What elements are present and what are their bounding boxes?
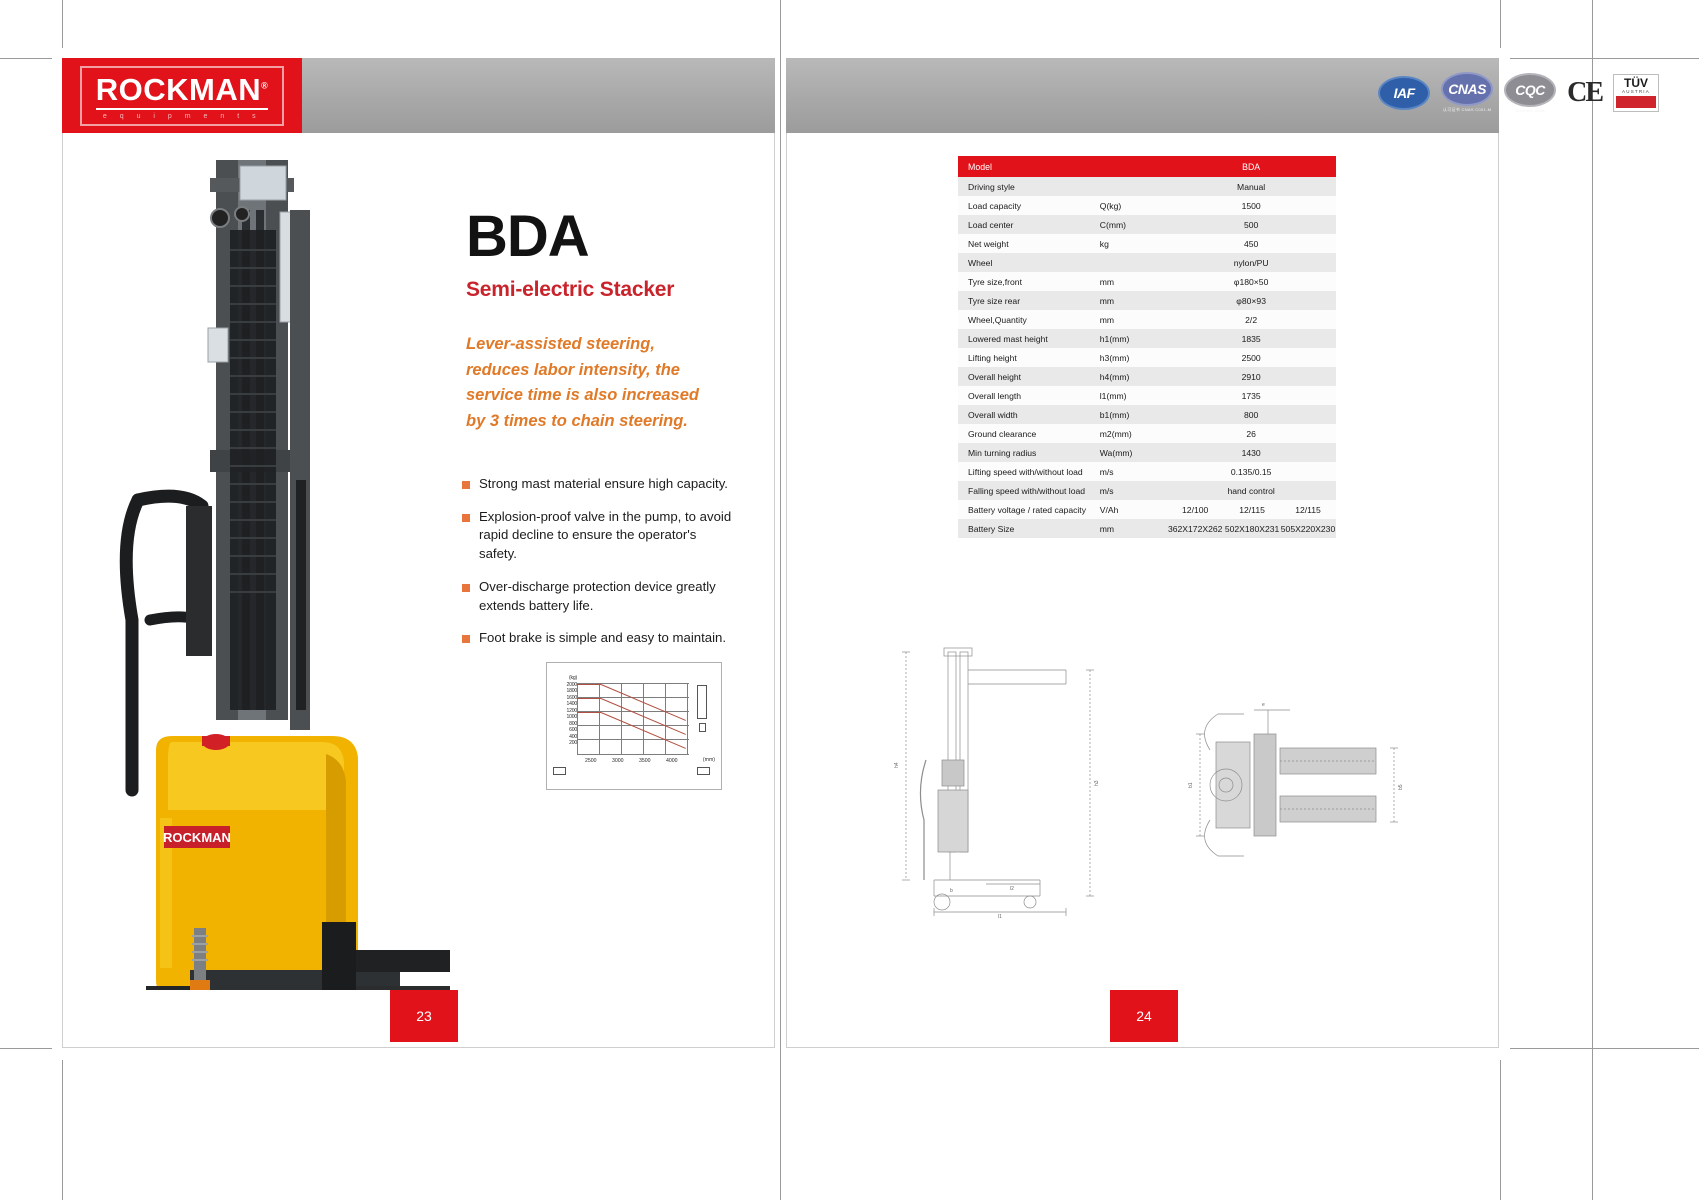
spec-table-body: Model BDA Driving styleManual Load capac… [958, 156, 1336, 538]
certification-badges: IAF CNAS 认可证书 CNAS C001-M CQC ISO9001:20… [1378, 72, 1659, 113]
product-title-block: BDA Semi-electric Stacker Lever-assisted… [466, 208, 746, 434]
trim-guide-center [780, 0, 781, 1200]
row-unit: mm [1100, 291, 1167, 310]
row-label: Lowered mast height [958, 329, 1100, 348]
page-number-left: 23 [390, 990, 458, 1042]
row-value: 2/2 [1166, 310, 1336, 329]
cqc-badge-icon: CQC ISO9001:2008 [1504, 73, 1556, 113]
pallet-icon [553, 767, 566, 775]
cnas-badge-icon: CNAS 认可证书 CNAS C001-M [1441, 72, 1493, 113]
table-row: Load centerC(mm)500 [958, 215, 1336, 234]
feature-text: Over-discharge protection device greatly… [479, 578, 737, 615]
svg-text:e: e [1262, 702, 1265, 708]
table-row: Lifting speed with/without loadm/s0.135/… [958, 462, 1336, 481]
svg-text:b: b [950, 888, 953, 894]
chart-series-line [577, 684, 601, 685]
cnas-label: CNAS [1441, 72, 1493, 106]
table-row: Driving styleManual [958, 177, 1336, 196]
row-value: 0.135/0.15 [1166, 462, 1336, 481]
table-row: Ground clearancem2(mm)26 [958, 424, 1336, 443]
row-unit: h4(mm) [1100, 367, 1167, 386]
product-photo: ROCKMAN [90, 150, 450, 990]
bullet-square-icon [462, 514, 470, 522]
table-row: Lowered mast heighth1(mm)1835 [958, 329, 1336, 348]
row-label: Falling speed with/without load [958, 481, 1100, 500]
brand-tagline: e q u i p m e n t s [96, 113, 269, 120]
row-value: 500 [1166, 215, 1336, 234]
table-row: Falling speed with/without loadm/shand c… [958, 481, 1336, 500]
tuv-caption: AUSTRIA [1622, 89, 1650, 94]
list-item: Explosion-proof valve in the pump, to av… [462, 508, 737, 564]
cnas-caption: 认可证书 CNAS C001-M [1443, 107, 1491, 113]
row-value: 1430 [1166, 443, 1336, 462]
table-row: Overall lengthl1(mm)1735 [958, 386, 1336, 405]
row-unit: C(mm) [1100, 215, 1167, 234]
svg-text:b1: b1 [1188, 782, 1194, 788]
product-tagline: Lever-assisted steering, reduces labor i… [466, 332, 706, 434]
row-value: hand control [1166, 481, 1336, 500]
table-row: Lifting heighth3(mm)2500 [958, 348, 1336, 367]
cqc-caption: ISO9001:2008 [1515, 108, 1544, 113]
trim-guide [62, 1060, 63, 1200]
row-unit [1100, 253, 1167, 272]
specification-table: Model BDA Driving styleManual Load capac… [958, 156, 1336, 538]
row-label: Tyre size rear [958, 291, 1100, 310]
chart-xtick: 2500 [585, 758, 597, 764]
table-row: Battery Size mm 362X172X262 502X180X231 … [958, 519, 1336, 538]
feature-text: Strong mast material ensure high capacit… [479, 475, 728, 494]
svg-text:ROCKMAN: ROCKMAN [163, 830, 231, 845]
row-unit: mm [1100, 310, 1167, 329]
chart-y-axis-labels: (kg) 2000 1800 1600 1400 1200 1000 800 6… [551, 675, 577, 747]
svg-text:l1: l1 [998, 914, 1002, 920]
table-row: Net weightkg450 [958, 234, 1336, 253]
row-unit: Q(kg) [1100, 196, 1167, 215]
table-row: Tyre size,frontmmφ180×50 [958, 272, 1336, 291]
trim-guide [1500, 1060, 1501, 1200]
list-item: Over-discharge protection device greatly… [462, 578, 737, 615]
row-value: 26 [1166, 424, 1336, 443]
page-title: BDA [466, 208, 746, 266]
row-label: Driving style [958, 177, 1100, 196]
row-label: Load center [958, 215, 1100, 234]
feature-text: Explosion-proof valve in the pump, to av… [479, 508, 737, 564]
trim-guide [62, 0, 63, 48]
row-value: 1835 [1166, 329, 1336, 348]
table-row: Min turning radiusWa(mm)1430 [958, 443, 1336, 462]
row-value: 502X180X231 [1224, 519, 1280, 538]
load-capacity-chart: (kg) 2000 1800 1600 1400 1200 1000 800 6… [546, 662, 722, 790]
row-unit: mm [1100, 519, 1167, 538]
svg-text:b5: b5 [1398, 784, 1404, 790]
logo-inner-frame: ROCKMAN® e q u i p m e n t s [80, 66, 285, 126]
row-value: 12/115 [1224, 500, 1280, 519]
catalog-spread: ROCKMAN® e q u i p m e n t s IAF CNAS 认可… [0, 0, 1699, 1200]
row-unit: m/s [1100, 481, 1167, 500]
feature-list: Strong mast material ensure high capacit… [462, 475, 737, 662]
row-unit: b1(mm) [1100, 405, 1167, 424]
product-subtitle: Semi-electric Stacker [466, 278, 746, 302]
trim-guide [1510, 58, 1699, 59]
chart-ytick: 200 [551, 740, 577, 747]
chart-plot-area [577, 683, 689, 755]
row-value: 1735 [1166, 386, 1336, 405]
row-value: 362X172X262 [1166, 519, 1224, 538]
row-value: φ80×93 [1166, 291, 1336, 310]
row-label: Battery voltage / rated capacity [958, 500, 1100, 519]
chart-series-line [577, 712, 601, 713]
list-item: Foot brake is simple and easy to maintai… [462, 629, 737, 648]
load-center-icon [699, 723, 706, 732]
row-unit: l1(mm) [1100, 386, 1167, 405]
tuv-red-bar [1616, 96, 1656, 108]
row-value: 12/100 [1166, 500, 1224, 519]
page-number-right: 24 [1110, 990, 1178, 1042]
bullet-square-icon [462, 584, 470, 592]
table-row: Wheelnylon/PU [958, 253, 1336, 272]
row-unit: kg [1100, 234, 1167, 253]
row-unit [1100, 177, 1167, 196]
row-unit: mm [1100, 272, 1167, 291]
row-unit: m/s [1100, 462, 1167, 481]
ce-mark-icon: CE [1567, 77, 1602, 109]
row-value: 2500 [1166, 348, 1336, 367]
envelope-icon [697, 767, 710, 775]
row-label: Tyre size,front [958, 272, 1100, 291]
row-label: Battery Size [958, 519, 1100, 538]
tuv-austria-icon: TÜV AUSTRIA [1613, 74, 1659, 112]
chart-xtick: 4000 [666, 758, 678, 764]
row-label: Lifting speed with/without load [958, 462, 1100, 481]
svg-text:h3: h3 [1094, 780, 1100, 786]
cqc-label: CQC [1504, 73, 1556, 107]
row-value: 505X220X230 [1280, 519, 1336, 538]
table-row: Overall widthb1(mm)800 [958, 405, 1336, 424]
row-unit: h3(mm) [1100, 348, 1167, 367]
header-label: Model [958, 156, 1100, 177]
row-label: Overall height [958, 367, 1100, 386]
brand-name: ROCKMAN® [96, 74, 269, 105]
list-item: Strong mast material ensure high capacit… [462, 475, 737, 494]
row-label: Load capacity [958, 196, 1100, 215]
iaf-badge-icon: IAF [1378, 76, 1430, 110]
feature-text: Foot brake is simple and easy to maintai… [479, 629, 726, 648]
bullet-square-icon [462, 635, 470, 643]
row-label: Wheel,Quantity [958, 310, 1100, 329]
row-value: Manual [1166, 177, 1336, 196]
chart-x-unit: (mm) [703, 757, 715, 763]
table-row: Tyre size rearmmφ80×93 [958, 291, 1336, 310]
table-row: Wheel,Quantitymm2/2 [958, 310, 1336, 329]
row-unit: Wa(mm) [1100, 443, 1167, 462]
row-label: Wheel [958, 253, 1100, 272]
row-value: 12/115 [1280, 500, 1336, 519]
trim-guide [1510, 1048, 1699, 1049]
trim-guide [1592, 0, 1593, 1200]
technical-drawings: h4 h3 l1 l2 b [880, 640, 1440, 930]
row-value: nylon/PU [1166, 253, 1336, 272]
chart-xtick: 3000 [612, 758, 624, 764]
lift-height-icon [697, 685, 707, 719]
row-label: Overall length [958, 386, 1100, 405]
table-row: Battery voltage / rated capacity V/Ah 12… [958, 500, 1336, 519]
row-unit: V/Ah [1100, 500, 1167, 519]
svg-text:h4: h4 [894, 762, 900, 768]
side-elevation-drawing: h4 h3 l1 l2 b [890, 640, 1120, 920]
bullet-square-icon [462, 481, 470, 489]
row-value: 800 [1166, 405, 1336, 424]
header-value: BDA [1166, 156, 1336, 177]
iaf-label: IAF [1378, 76, 1430, 110]
tuv-label: TÜV [1624, 77, 1648, 89]
trim-guide [0, 1048, 52, 1049]
row-unit: h1(mm) [1100, 329, 1167, 348]
row-label: Overall width [958, 405, 1100, 424]
row-value: 450 [1166, 234, 1336, 253]
table-row: Overall heighth4(mm)2910 [958, 367, 1336, 386]
header-unit [1100, 156, 1167, 177]
chart-series-line [577, 698, 601, 699]
row-value: 1500 [1166, 196, 1336, 215]
ce-label: CE [1567, 77, 1602, 109]
row-label: Net weight [958, 234, 1100, 253]
stacker-illustration: ROCKMAN [90, 150, 450, 990]
row-label: Min turning radius [958, 443, 1100, 462]
plan-view-drawing: b1 b5 e [1180, 690, 1430, 880]
trim-guide [1500, 0, 1501, 48]
svg-text:l2: l2 [1010, 886, 1014, 892]
row-label: Ground clearance [958, 424, 1100, 443]
brand-logo: ROCKMAN® e q u i p m e n t s [62, 58, 302, 133]
row-value: 2910 [1166, 367, 1336, 386]
tuv-badge-body: TÜV AUSTRIA [1613, 74, 1659, 112]
row-unit: m2(mm) [1100, 424, 1167, 443]
trim-guide [0, 58, 52, 59]
chart-xtick: 3500 [639, 758, 651, 764]
row-label: Lifting height [958, 348, 1100, 367]
table-row: Load capacityQ(kg)1500 [958, 196, 1336, 215]
table-header-row: Model BDA [958, 156, 1336, 177]
logo-underline [96, 108, 269, 110]
row-value: φ180×50 [1166, 272, 1336, 291]
